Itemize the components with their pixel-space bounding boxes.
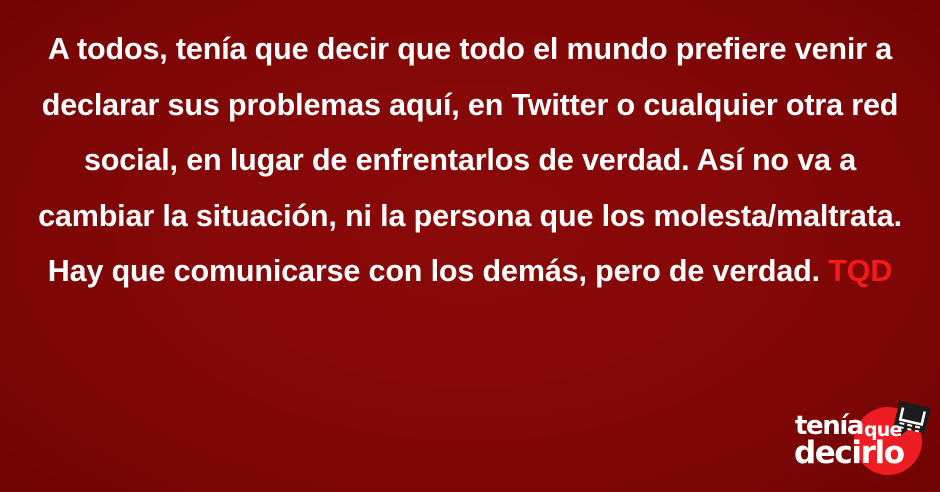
logo-word-decirlo: decirlo bbox=[794, 438, 904, 469]
brand-logo[interactable]: tenía que decirlo bbox=[792, 400, 940, 492]
quote-body: A todos, tenía que decir que todo el mun… bbox=[38, 32, 910, 288]
quote-card: A todos, tenía que decir que todo el mun… bbox=[0, 0, 940, 492]
quote-text: A todos, tenía que decir que todo el mun… bbox=[30, 22, 910, 300]
quote-tag: TQD bbox=[828, 254, 892, 288]
